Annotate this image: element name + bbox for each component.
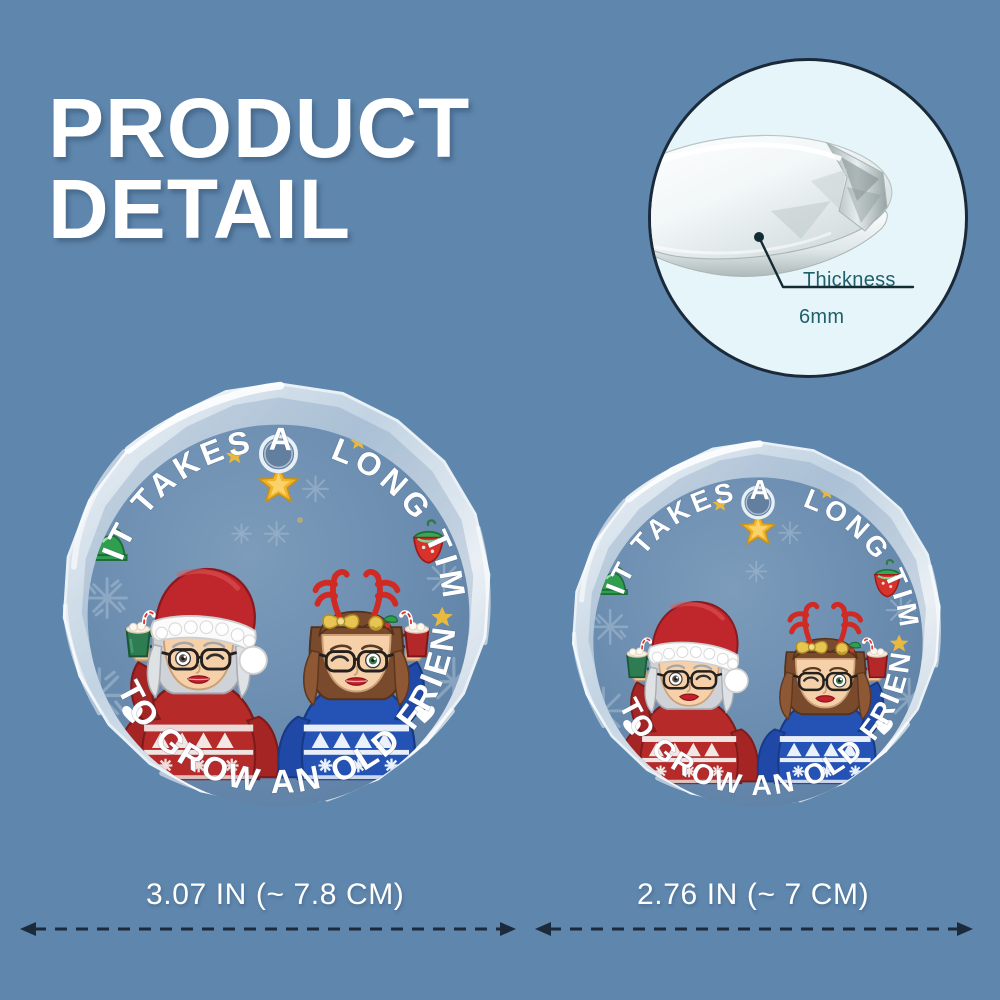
ornament-graphic: IT TAKES A LONG TIME TO GROW AN OLD FRIE… — [548, 432, 968, 852]
thickness-label: Thickness — [803, 269, 896, 292]
hat-pompom — [240, 647, 267, 674]
page-title: PRODUCT DETAIL — [48, 88, 470, 249]
ornament-preview-small[interactable]: IT TAKES A LONG TIME TO GROW AN OLD FRIE… — [548, 432, 968, 852]
dimension-label-small: 2.76 IN (~ 7 CM) — [637, 878, 869, 912]
thickness-value: 6mm — [799, 306, 844, 329]
dimension-label-large: 3.07 IN (~ 7.8 CM) — [146, 878, 404, 912]
product-detail-page: PRODUCT DETAIL — [0, 0, 1000, 1000]
ornament-preview-large[interactable]: IT TAKES A LONG TIME TO GROW AN OLD FRIE… — [35, 372, 522, 859]
hat-pompom — [724, 669, 748, 693]
red-lips — [680, 694, 698, 700]
dimension-arrow-large — [18, 918, 518, 940]
dimension-arrow-small — [533, 918, 975, 940]
thickness-callout: Thickness 6mm — [648, 58, 968, 378]
red-lips — [816, 696, 834, 702]
ornament-graphic: IT TAKES A LONG TIME TO GROW AN OLD FRIE… — [35, 372, 522, 859]
